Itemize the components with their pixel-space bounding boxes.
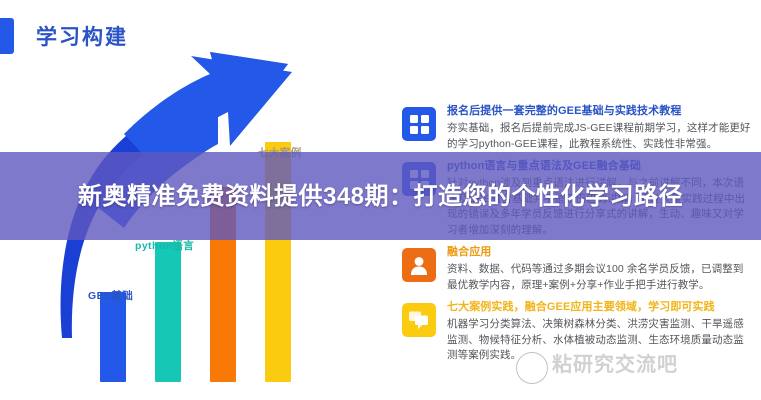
chat-icon bbox=[402, 303, 436, 337]
content-section: 七大案例实践，融合GEE应用主要领域，学习即可实践 机器学习分类算法、决策树森林… bbox=[402, 300, 754, 364]
bar-label-1: GEE基础 bbox=[88, 288, 133, 303]
poster-canvas: 学习构建 GEE基础 python语言 融合应用 七大案例 bbox=[0, 0, 761, 400]
content-section-body: 融合应用 资料、数据、代码等通过多期会议100 余名学员反馈，已调整到最优教学内… bbox=[447, 245, 754, 293]
bar-1 bbox=[100, 292, 126, 382]
grid-icon bbox=[402, 107, 436, 141]
section-title: 报名后提供一套完整的GEE基础与实践技术教程 bbox=[447, 104, 754, 119]
section-text: 夯实基础，报名后提前完成JS-GEE课程前期学习，这样才能更好的学习python… bbox=[447, 121, 754, 152]
section-text: 资料、数据、代码等通过多期会议100 余名学员反馈，已调整到最优教学内容，原理+… bbox=[447, 262, 754, 293]
overlay-banner-text: 新奥精准免费资料提供348期：打造您的个性化学习路径 bbox=[31, 180, 731, 213]
bar-label-2: python语言 bbox=[135, 238, 194, 253]
bar-2 bbox=[155, 242, 181, 382]
overlay-banner: 新奥精准免费资料提供348期：打造您的个性化学习路径 bbox=[0, 152, 761, 240]
content-section: 融合应用 资料、数据、代码等通过多期会议100 余名学员反馈，已调整到最优教学内… bbox=[402, 245, 754, 293]
person-icon bbox=[402, 248, 436, 282]
section-title: 融合应用 bbox=[447, 245, 754, 260]
content-section-body: 七大案例实践，融合GEE应用主要领域，学习即可实践 机器学习分类算法、决策树森林… bbox=[447, 300, 754, 364]
section-title: 七大案例实践，融合GEE应用主要领域，学习即可实践 bbox=[447, 300, 754, 315]
section-text: 机器学习分类算法、决策树森林分类、洪涝灾害监测、干旱遥感监测、物候特征分析、水体… bbox=[447, 317, 754, 364]
content-section-body: 报名后提供一套完整的GEE基础与实践技术教程 夯实基础，报名后提前完成JS-GE… bbox=[447, 104, 754, 152]
content-section: 报名后提供一套完整的GEE基础与实践技术教程 夯实基础，报名后提前完成JS-GE… bbox=[402, 104, 754, 152]
